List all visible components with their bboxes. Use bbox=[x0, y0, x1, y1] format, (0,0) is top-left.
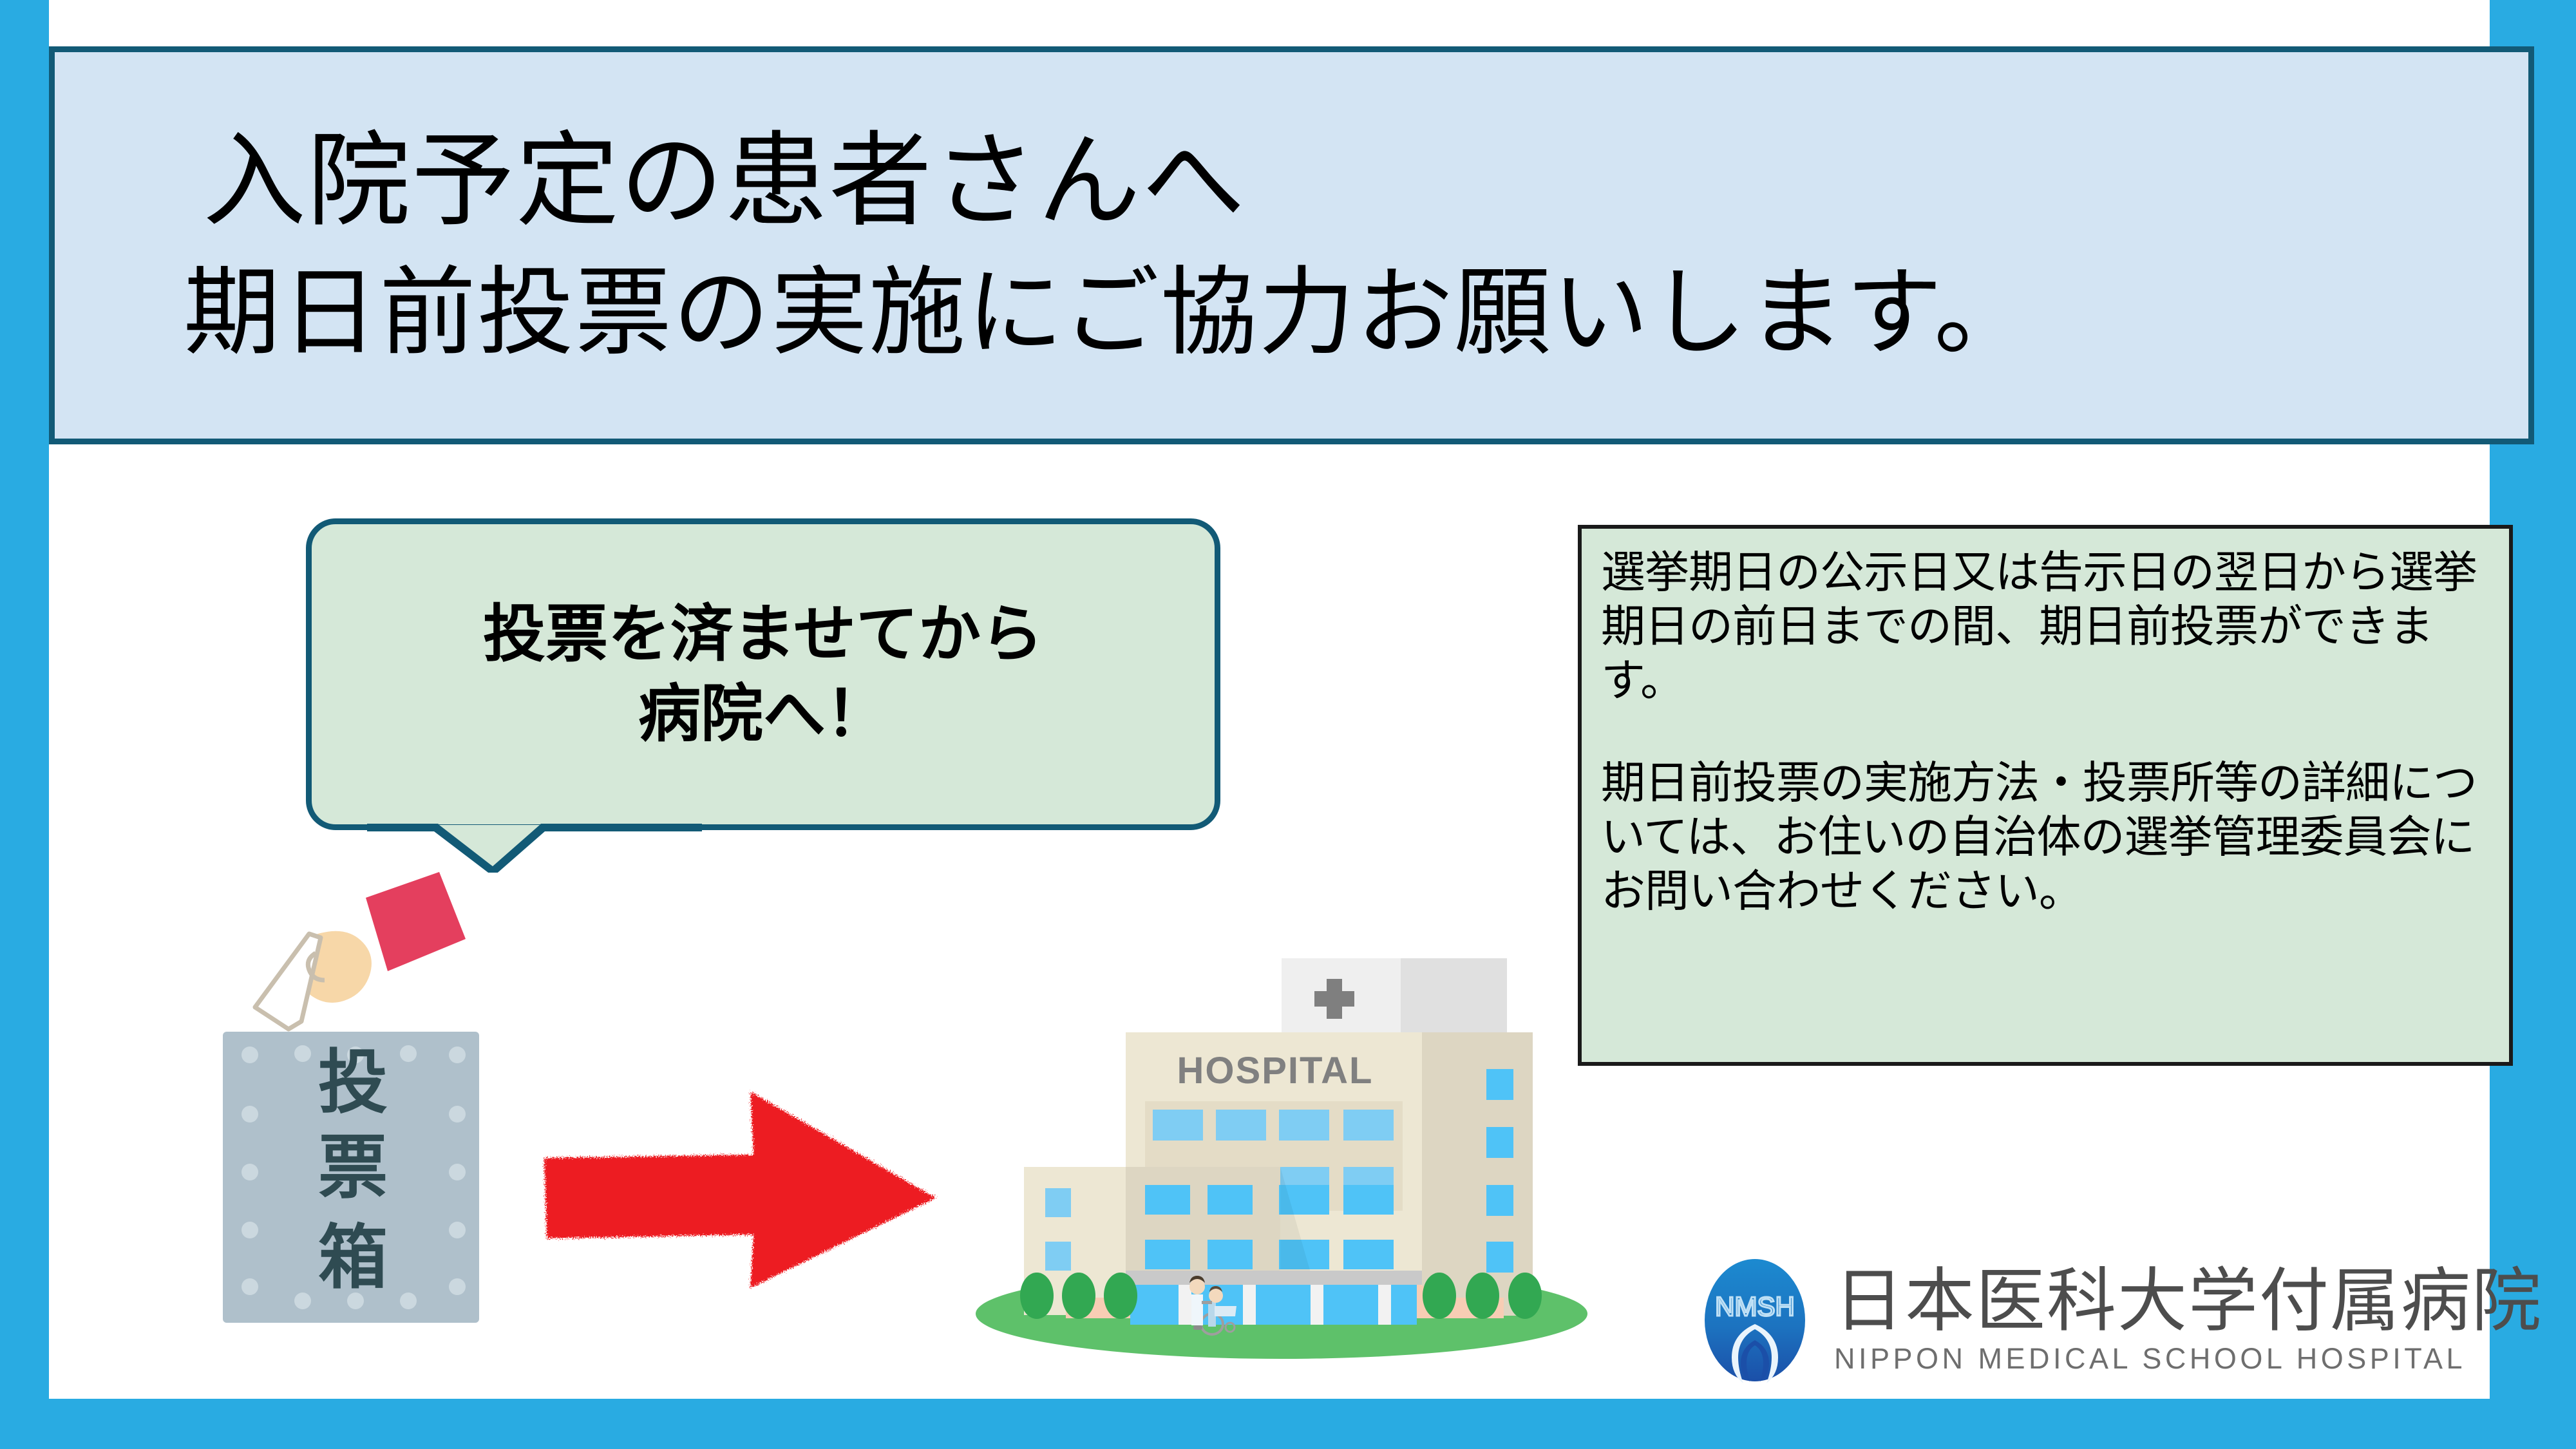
logo-text-block: 日本医科大学付属病院 NIPPON MEDICAL SCHOOL HOSPITA… bbox=[1834, 1265, 2543, 1376]
info-paragraph-1: 選挙期日の公示日又は告示日の翌日から選挙期日の前日までの間、期日前投票ができます… bbox=[1601, 545, 2491, 708]
right-arrow-icon bbox=[538, 1066, 943, 1307]
page-title-line2: 期日前投票の実施にご協力お願いします。 bbox=[184, 262, 2528, 364]
nmsh-logo-icon: NMSH bbox=[1694, 1258, 1816, 1383]
svg-text:箱: 箱 bbox=[318, 1218, 388, 1298]
speech-bubble-line2: 病院へ！ bbox=[638, 674, 888, 754]
header-banner: 入院予定の患者さんへ 期日前投票の実施にご協力お願いします。 bbox=[49, 46, 2534, 444]
speech-bubble: 投票を済ませてから 病院へ！ bbox=[306, 518, 1220, 871]
voting-hand-icon bbox=[255, 872, 466, 1029]
logo-name-jp: 日本医科大学付属病院 bbox=[1834, 1265, 2543, 1337]
info-paragraph-2: 期日前投票の実施方法・投票所等の詳細については、お住いの自治体の選挙管理委員会に… bbox=[1601, 756, 2491, 919]
speech-bubble-body: 投票を済ませてから 病院へ！ bbox=[306, 518, 1220, 830]
info-spacer bbox=[1601, 708, 2491, 756]
ballot-box-illustration: 投 票 箱 bbox=[213, 857, 489, 1333]
svg-text:票: 票 bbox=[318, 1128, 388, 1208]
nmsh-mark-text: NMSH bbox=[1715, 1291, 1795, 1321]
hospital-sign-text: HOSPITAL bbox=[1177, 1050, 1374, 1092]
info-box: 選挙期日の公示日又は告示日の翌日から選挙期日の前日までの間、期日前投票ができます… bbox=[1578, 525, 2513, 1066]
hospital-illustration: HOSPITAL bbox=[960, 914, 1591, 1365]
ballot-box-label: 投 bbox=[318, 1043, 388, 1123]
page-title-line1: 入院予定の患者さんへ bbox=[203, 127, 2528, 235]
hospital-logo: NMSH 日本医科大学付属病院 NIPPON MEDICAL SCHOOL HO… bbox=[1694, 1249, 2486, 1391]
logo-name-en: NIPPON MEDICAL SCHOOL HOSPITAL bbox=[1834, 1342, 2543, 1376]
speech-bubble-line1: 投票を済ませてから bbox=[483, 594, 1043, 674]
